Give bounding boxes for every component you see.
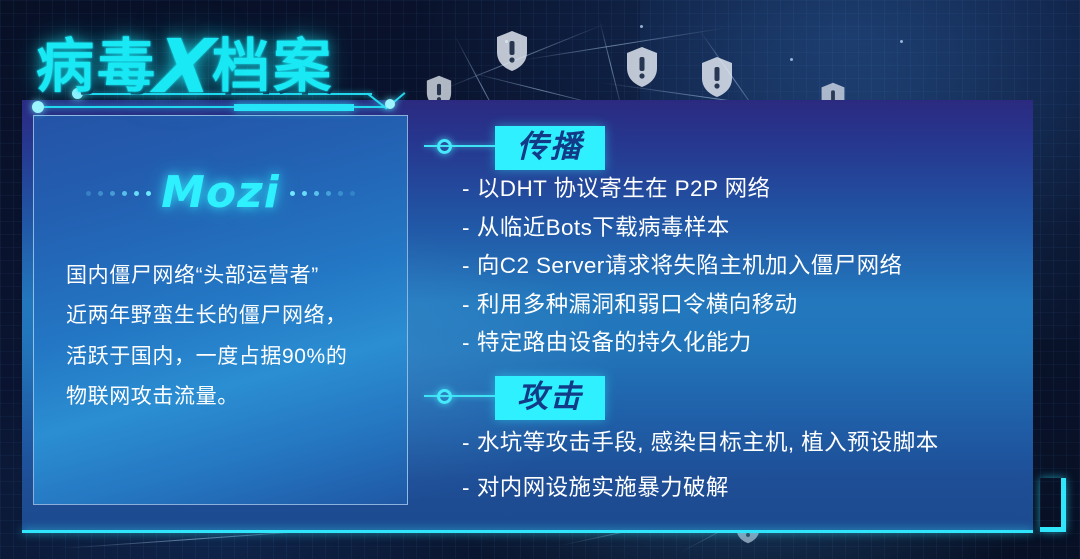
connector-line-attack	[424, 395, 496, 397]
deco-bar	[234, 104, 354, 111]
list-item-label: 对内网设施实施暴力破解	[477, 475, 729, 500]
title-prefix: 病毒	[36, 32, 158, 100]
deco-dot-lower	[32, 101, 44, 113]
bullet-dash: -	[462, 475, 470, 500]
list-item: -对内网设施实施暴力破解	[462, 477, 939, 500]
attack-bullet-list: -水坑等攻击手段, 感染目标主机, 植入预设脚本 -对内网设施实施暴力破解	[462, 432, 939, 499]
infographic-canvas: 病毒X档案 Mozi 国内僵尸网络“头部运营者” 近两年野蛮生长的僵尸网络， 活…	[0, 0, 1080, 559]
panel-bottom-accent-line	[22, 530, 1033, 533]
section-badge-label: 攻击	[517, 380, 583, 414]
page-title: 病毒X档案	[36, 24, 334, 98]
title-suffix: 档案	[212, 32, 334, 100]
list-item: -水坑等攻击手段, 感染目标主机, 植入预设脚本	[462, 432, 939, 455]
title-x-mark: X	[152, 30, 220, 104]
section-badge-attack: 攻击	[495, 376, 605, 420]
deco-dot-junction	[385, 99, 395, 109]
bullet-dash: -	[462, 430, 470, 455]
list-item-label: 水坑等攻击手段, 感染目标主机, 植入预设脚本	[477, 430, 939, 455]
corner-bracket-decoration	[1040, 478, 1066, 532]
connector-node-attack	[437, 389, 452, 404]
